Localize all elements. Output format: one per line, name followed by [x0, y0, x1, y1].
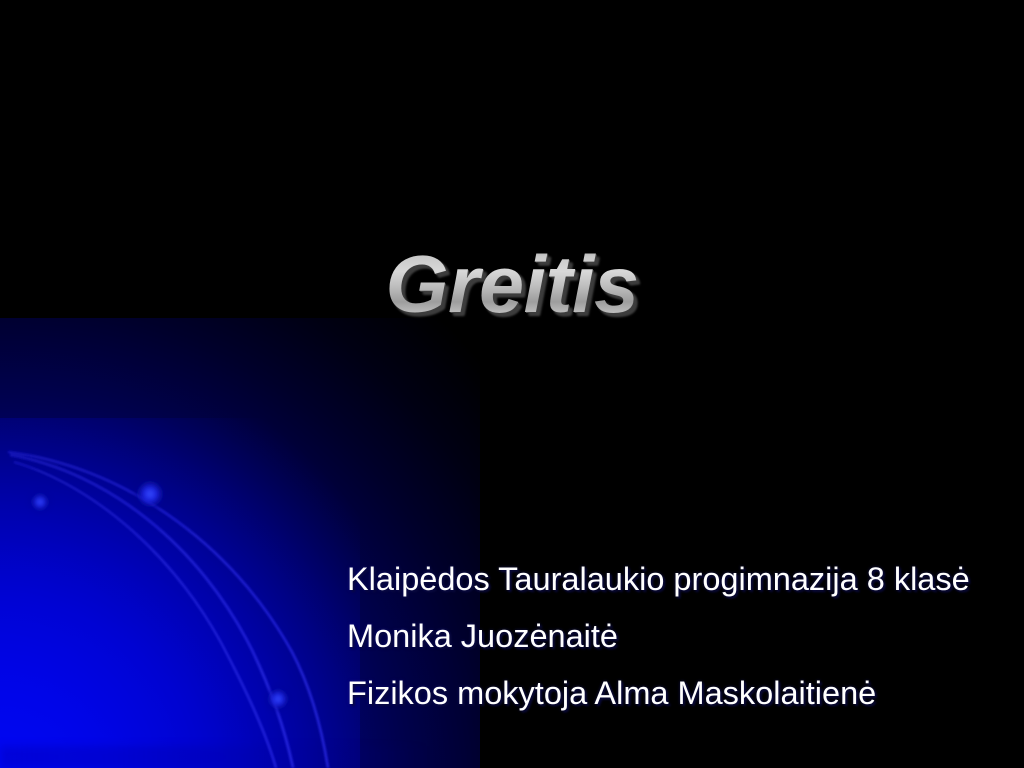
arc-inner — [14, 462, 276, 768]
arc-node-large — [133, 477, 167, 511]
arc-group — [8, 452, 328, 768]
body-line-teacher: Fizikos mokytoja Alma Maskolaitienė — [347, 670, 1019, 716]
slide-title: Greitis — [385, 243, 638, 327]
blue-glow-secondary — [0, 418, 360, 768]
presentation-slide: Greitis Klaipėdos Tauralaukio progimnazi… — [0, 0, 1024, 768]
arc-middle — [10, 455, 293, 768]
arc-node-small — [29, 491, 51, 513]
slide-title-block: Greitis — [0, 243, 1024, 327]
blue-bottom-streak — [0, 746, 430, 768]
body-line-student: Monika Juozėnaitė — [347, 613, 1019, 659]
body-line-school: Klaipėdos Tauralaukio progimnazija 8 kla… — [347, 556, 1019, 602]
slide-body-block: Klaipėdos Tauralaukio progimnazija 8 kla… — [347, 556, 1019, 716]
arc-node-medium — [265, 686, 291, 712]
arc-node-group — [29, 477, 291, 712]
arc-outer — [8, 452, 328, 768]
